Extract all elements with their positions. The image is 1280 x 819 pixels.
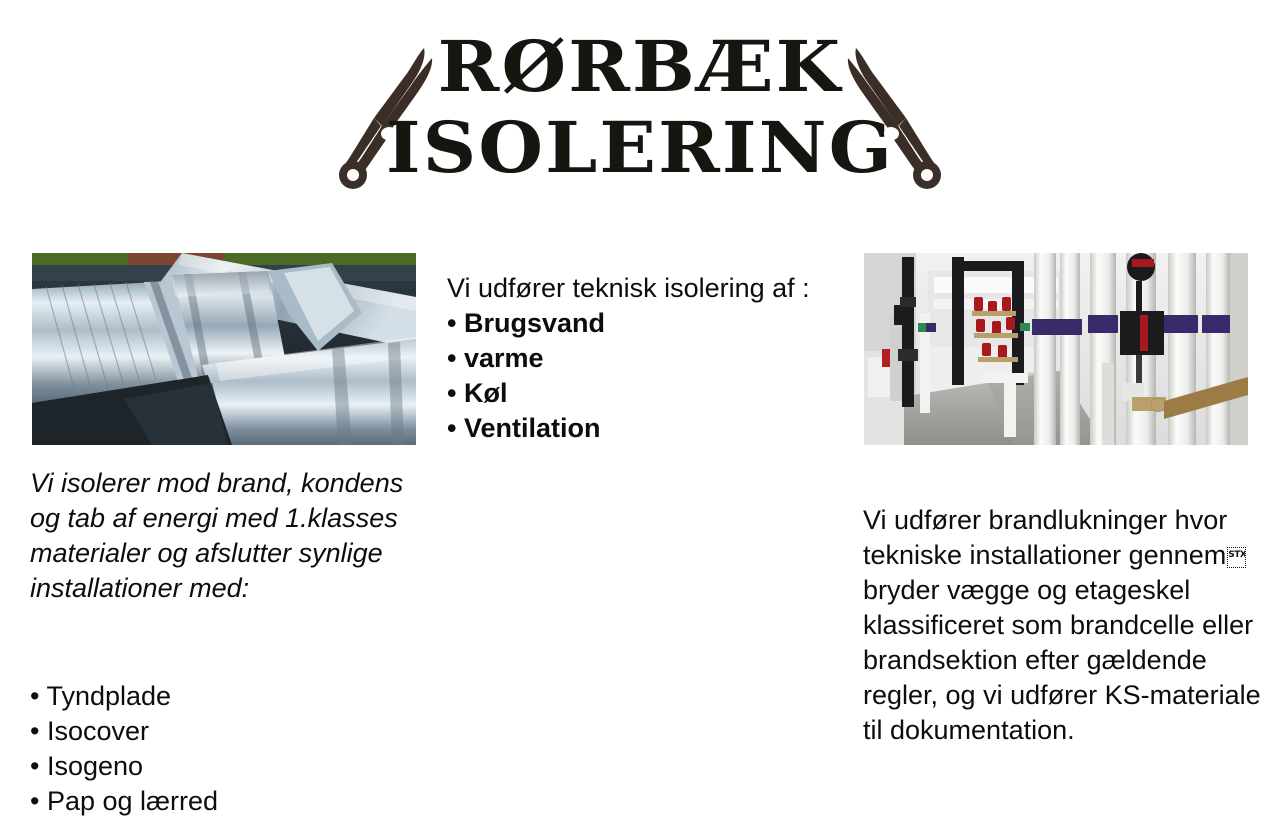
list-item: • varme — [447, 341, 847, 376]
left-column-intro-paragraph: Vi isolerer mod brand, kondens og tab af… — [30, 466, 430, 606]
list-item: • Køl — [447, 376, 847, 411]
list-item: • Tyndplade — [30, 679, 430, 714]
right-paragraph-part-1: Vi udfører brandlukninger hvor tekniske … — [863, 505, 1227, 570]
logo-header: RØRBÆK ISOLERING — [0, 0, 1280, 232]
ventilation-duct-photo — [32, 253, 416, 445]
right-column-paragraph: Vi udfører brandlukninger hvor tekniske … — [863, 503, 1263, 748]
list-item: • Isocover — [30, 714, 430, 749]
list-item: • Brugsvand — [447, 306, 847, 341]
services-list: • Brugsvand • varme • Køl • Ventilation — [447, 306, 847, 446]
missing-glyph-label: STX — [1228, 551, 1245, 560]
list-item: • Pap og lærred — [30, 784, 430, 819]
middle-column: Vi udfører teknisk isolering af : • Brug… — [447, 271, 847, 446]
right-paragraph-part-2: bryder vægge og etageskel klassificeret … — [863, 575, 1261, 745]
list-item: • Isogeno — [30, 749, 430, 784]
services-heading: Vi udfører teknisk isolering af : — [447, 271, 847, 306]
logo-line-1: RØRBÆK — [386, 34, 894, 101]
logo-line-2: ISOLERING — [386, 115, 894, 182]
list-item: • Ventilation — [447, 411, 847, 446]
logo-wordmark: RØRBÆK ISOLERING — [400, 34, 880, 181]
left-column-materials-list: • Tyndplade • Isocover • Isogeno • Pap o… — [30, 679, 430, 819]
shears-icon — [838, 42, 942, 192]
plant-room-photo — [864, 253, 1248, 445]
missing-glyph-stx-icon: STX — [1227, 547, 1246, 568]
